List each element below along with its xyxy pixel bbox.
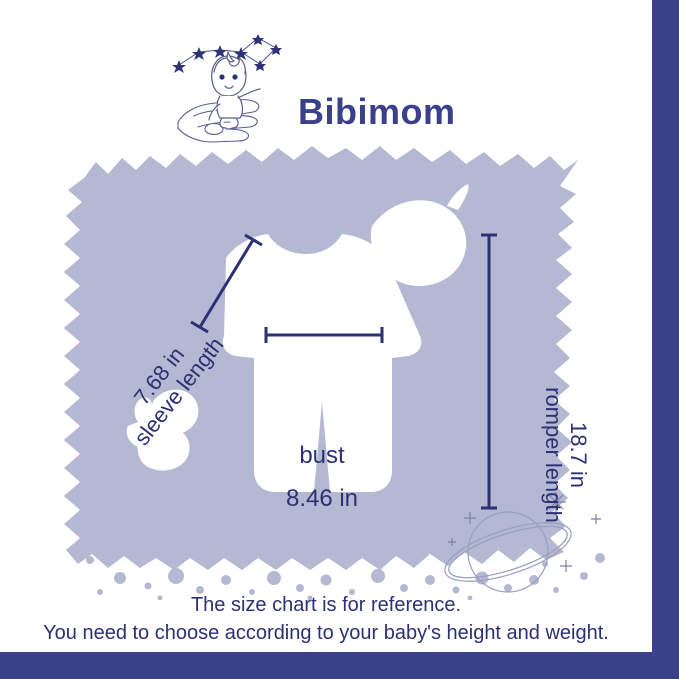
bust-measurement-name: bust — [262, 443, 382, 470]
illustration-stage: 7.68 in sleeve length 18.7 in romper len… — [0, 140, 652, 600]
disclaimer-text: The size chart is for reference. You nee… — [0, 592, 652, 647]
disclaimer-line-2: You need to choose according to your bab… — [0, 620, 652, 648]
disclaimer-line-1: The size chart is for reference. — [0, 592, 652, 620]
frame-border-right — [652, 0, 679, 679]
brand-header: Bibimom — [0, 24, 652, 144]
frame-border-bottom — [0, 652, 679, 679]
size-chart-image: Bibimom — [0, 0, 679, 679]
romper-measurement-label: 18.7 in romper length — [530, 350, 590, 560]
bibimom-logo — [168, 30, 288, 148]
logo-artwork — [168, 30, 288, 148]
romper-name: romper length — [541, 387, 566, 523]
bust-measurement-value: 8.46 in — [252, 486, 392, 513]
brand-wordmark: Bibimom — [298, 94, 528, 130]
romper-value: 18.7 in — [566, 422, 591, 488]
